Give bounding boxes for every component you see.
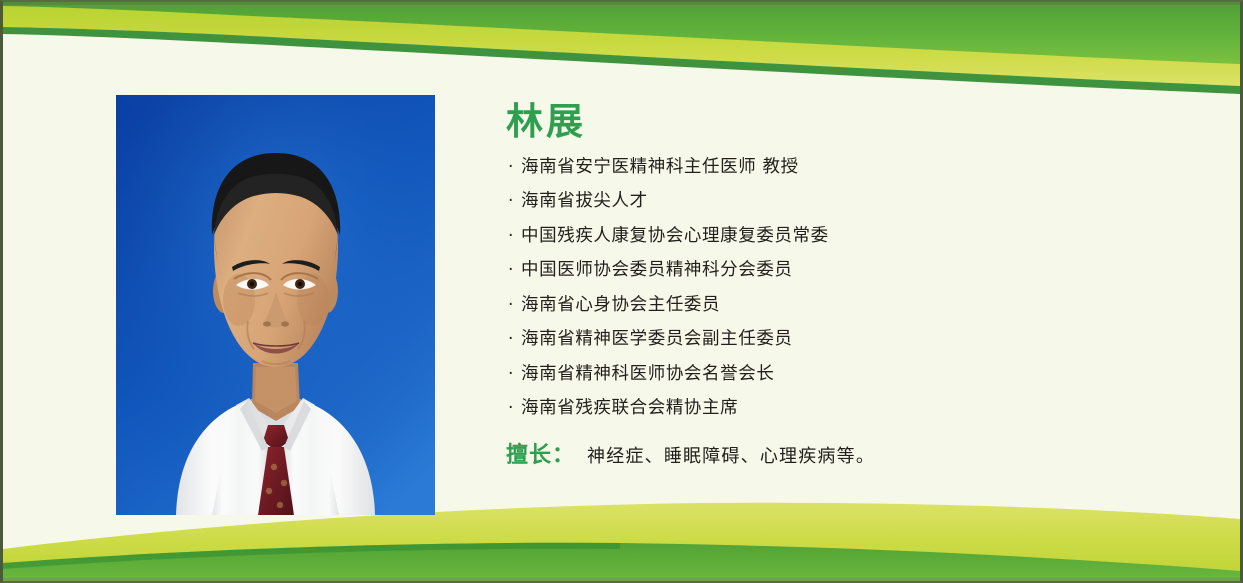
bullet-dot-icon: · [508, 159, 514, 176]
list-item: ·海南省精神科医师协会名誉会长 [506, 366, 1166, 384]
list-item: ·海南省心身协会主任委员 [506, 297, 1166, 315]
bullet-dot-icon: · [508, 228, 514, 245]
bullet-dot-icon: · [508, 193, 514, 210]
doctor-info-panel: 林展 ·海南省安宁医精神科主任医师 教授 ·海南省拔尖人才 ·中国残疾人康复协会… [506, 102, 1166, 469]
list-item: ·海南省安宁医精神科主任医师 教授 [506, 159, 1166, 177]
credential-text: 中国残疾人康复协会心理康复委员常委 [521, 226, 829, 246]
specialty-label: 擅长： [506, 437, 575, 469]
page-title: 林展 [506, 102, 1166, 143]
credential-text: 海南省安宁医精神科主任医师 教授 [521, 157, 799, 177]
list-item: ·中国残疾人康复协会心理康复委员常委 [506, 228, 1166, 246]
credential-text: 海南省精神科医师协会名誉会长 [521, 364, 774, 384]
list-item: ·海南省残疾联合会精协主席 [506, 400, 1166, 418]
bullet-dot-icon: · [508, 400, 514, 417]
list-item: ·海南省精神医学委员会副主任委员 [506, 331, 1166, 349]
credential-list: ·海南省安宁医精神科主任医师 教授 ·海南省拔尖人才 ·中国残疾人康复协会心理康… [506, 159, 1166, 418]
credential-text: 海南省心身协会主任委员 [521, 295, 720, 315]
bullet-dot-icon: · [508, 331, 514, 348]
list-item: ·海南省拔尖人才 [506, 193, 1166, 211]
credential-text: 海南省拔尖人才 [521, 191, 648, 211]
credential-text: 海南省残疾联合会精协主席 [521, 398, 738, 418]
doctor-profile-card: 海南省安宁医院 林展 ·海南省安宁医精神科主任医师 教授 ·海南省拔尖人才 ·中… [0, 0, 1243, 583]
bullet-dot-icon: · [508, 262, 514, 279]
doctor-portrait-photo: 海南省安宁医院 [116, 95, 435, 515]
credential-text: 中国医师协会委员精神科分会委员 [521, 260, 793, 280]
bullet-dot-icon: · [508, 297, 514, 314]
list-item: ·中国医师协会委员精神科分会委员 [506, 262, 1166, 280]
specialty-row: 擅长： 神经症、睡眠障碍、心理疾病等。 [506, 437, 1166, 469]
bullet-dot-icon: · [508, 366, 514, 383]
credential-text: 海南省精神医学委员会副主任委员 [521, 329, 793, 349]
specialty-value: 神经症、睡眠障碍、心理疾病等。 [587, 442, 875, 468]
